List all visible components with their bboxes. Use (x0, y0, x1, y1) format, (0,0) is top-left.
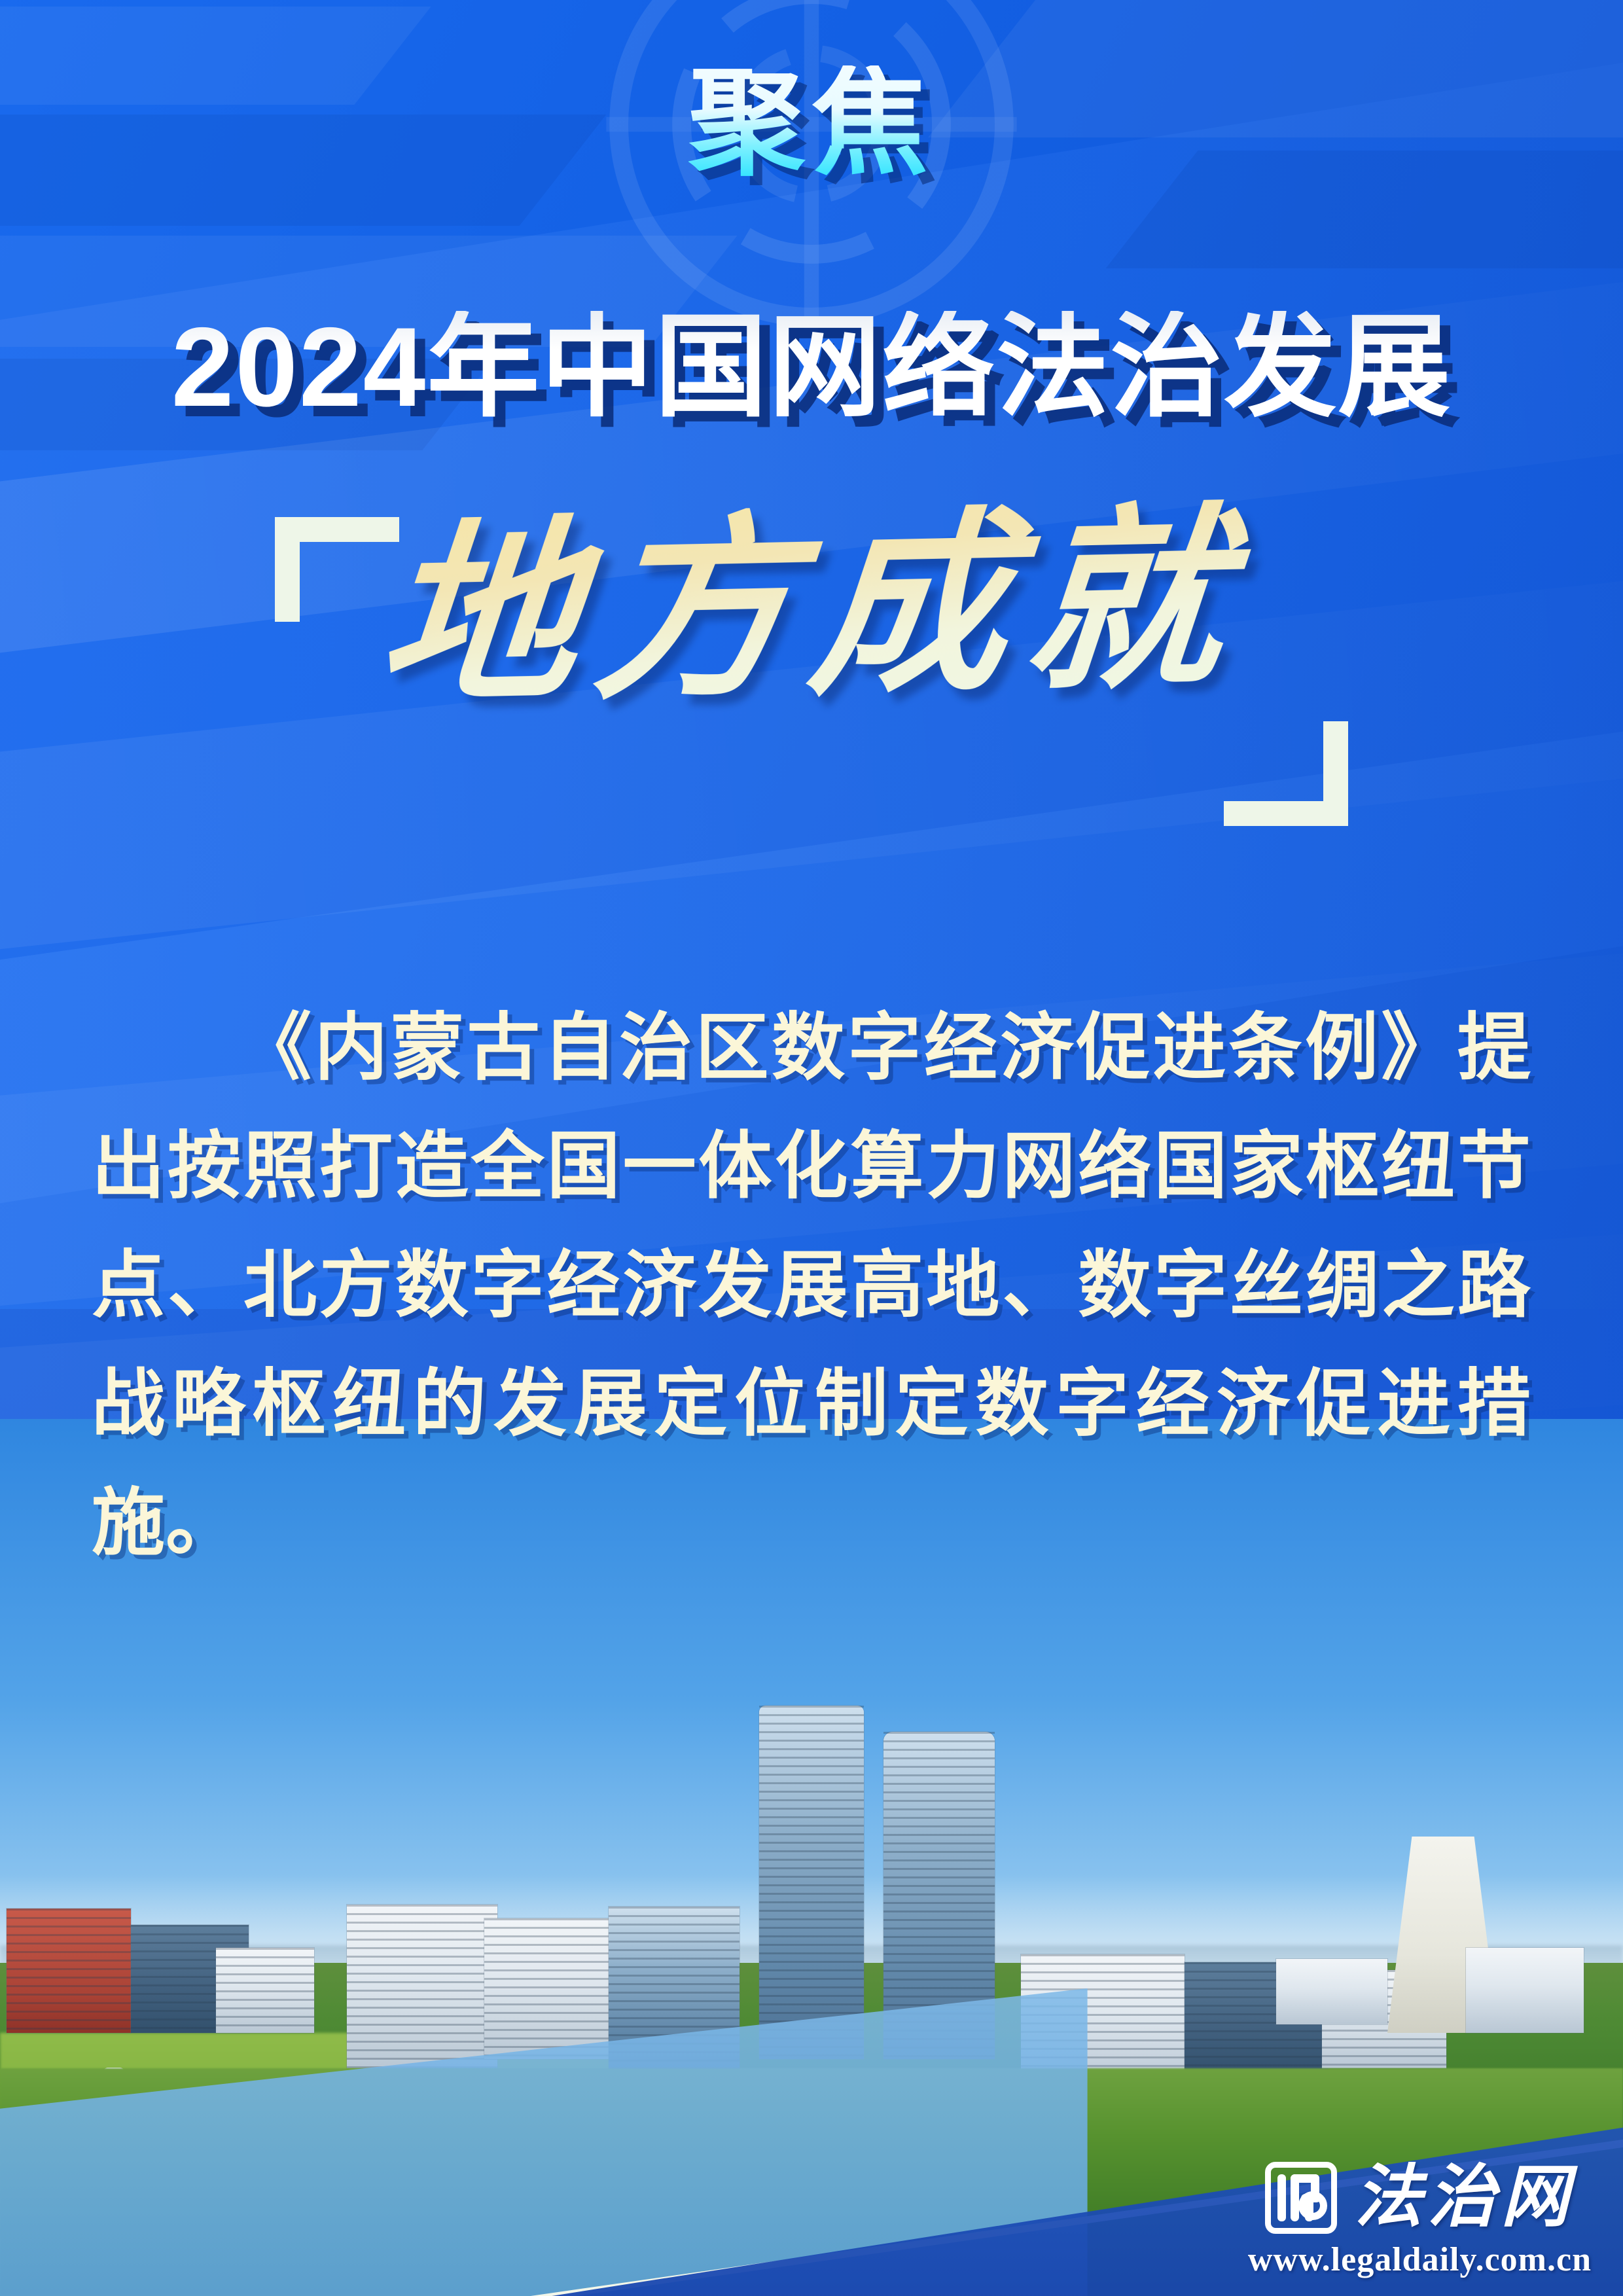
photo-building (609, 1907, 740, 2077)
photo-tower (883, 1732, 995, 2059)
legal-seal-icon (1265, 2162, 1337, 2234)
eyebrow-title: 聚焦 (688, 65, 935, 182)
site-logo[interactable]: 法治网 www.legaldaily.com.cn (1248, 2162, 1592, 2279)
photo-building (216, 1948, 314, 2033)
photo-building (1021, 1954, 1185, 2085)
corner-bracket-bottom-right-icon (1224, 721, 1348, 826)
body-paragraph: 《内蒙古自治区数字经济促进条例》提出按照打造全国一体化算力网络国家枢纽节点、北方… (92, 990, 1531, 1583)
subtitle-block: 地方成就 (0, 497, 1623, 838)
page-title: 2024年中国网络法治发展 (171, 311, 1452, 423)
logo-brand-name: 法治网 (1354, 2164, 1574, 2232)
poster-canvas: 聚焦 2024年中国网络法治发展 地方成就 《内蒙古自治区数字经济促进条例》提出… (0, 0, 1623, 2296)
photo-building (7, 1909, 131, 2033)
photo-plant-block (1466, 1948, 1584, 2033)
body-block: 《内蒙古自治区数字经济促进条例》提出按照打造全国一体化算力网络国家枢纽节点、北方… (0, 916, 1623, 1657)
photo-building (347, 1905, 497, 2068)
eyebrow-title-block: 聚焦 (0, 65, 1623, 182)
photo-tower (759, 1706, 864, 2059)
headline-block: 2024年中国网络法治发展 (0, 311, 1623, 423)
logo-url[interactable]: www.legaldaily.com.cn (1248, 2240, 1592, 2279)
calligraphy-subtitle: 地方成就 (245, 495, 1378, 725)
photo-building (484, 1918, 622, 2059)
photo-plant-block (1276, 1959, 1387, 2024)
